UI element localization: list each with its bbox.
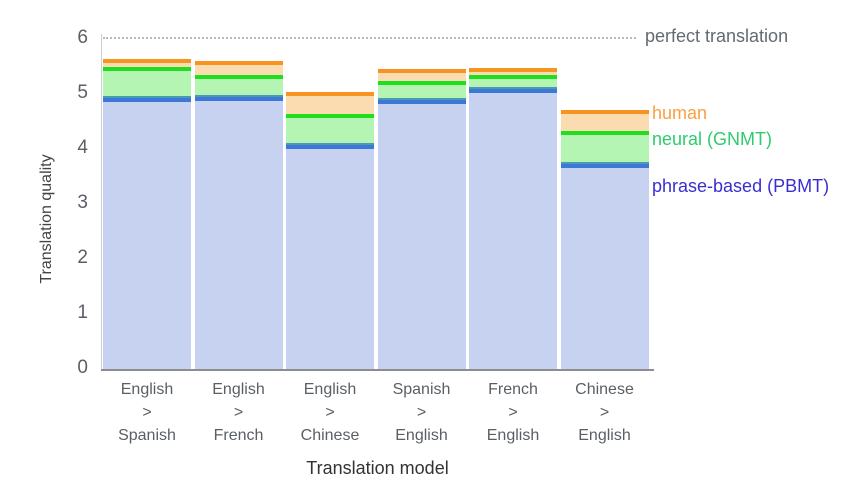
bar-spanish-english[interactable] — [378, 69, 466, 369]
rule-human — [103, 59, 191, 63]
y-tick-label-6: 6 — [58, 28, 88, 47]
rule-human — [286, 92, 374, 96]
segment-pbmt — [103, 98, 191, 369]
segment-pbmt — [378, 100, 466, 369]
rule-human — [195, 61, 283, 65]
x-axis-line — [101, 369, 654, 371]
y-tick-label-4: 4 — [58, 138, 88, 157]
rule-gnmt — [469, 75, 557, 79]
rule-gnmt — [195, 75, 283, 79]
bar-english-chinese[interactable] — [286, 92, 374, 369]
y-tick-label-0: 0 — [58, 358, 88, 377]
segment-pbmt — [561, 164, 649, 369]
bar-french-english[interactable] — [469, 68, 557, 369]
segment-gnmt — [103, 67, 191, 98]
rule-gnmt — [561, 131, 649, 135]
segment-pbmt — [469, 89, 557, 369]
rule-human — [469, 68, 557, 72]
rule-human — [378, 69, 466, 73]
y-tick-label-1: 1 — [58, 303, 88, 322]
rule-gnmt — [378, 81, 466, 85]
legend-item-human[interactable]: human — [652, 103, 707, 124]
x-label-from: Chinese — [550, 378, 660, 401]
legend-item-pbmt[interactable]: phrase-based (PBMT) — [652, 176, 829, 197]
y-tick-label-3: 3 — [58, 193, 88, 212]
bar-english-spanish[interactable] — [103, 59, 191, 369]
perfect-translation-label: perfect translation — [645, 26, 788, 47]
translation-quality-chart: Translation quality 6 5 4 3 2 1 0 perfec… — [0, 0, 857, 498]
x-label-to: English — [550, 424, 660, 447]
y-axis-line — [101, 34, 102, 370]
rule-gnmt — [286, 114, 374, 118]
rule-pbmt — [561, 164, 649, 168]
rule-pbmt — [286, 145, 374, 149]
rule-pbmt — [378, 100, 466, 104]
x-label-arrow: > — [550, 401, 660, 424]
rule-pbmt — [103, 98, 191, 102]
x-tick-label-5: Chinese>English — [550, 378, 660, 448]
rule-human — [561, 110, 649, 114]
rule-pbmt — [469, 89, 557, 93]
rule-gnmt — [103, 67, 191, 71]
segment-pbmt — [195, 97, 283, 369]
y-tick-label-5: 5 — [58, 83, 88, 102]
bar-chinese-english[interactable] — [561, 110, 649, 369]
rule-pbmt — [195, 97, 283, 101]
plot-area — [103, 34, 654, 369]
segment-pbmt — [286, 145, 374, 369]
y-axis-title: Translation quality — [38, 119, 56, 319]
segment-gnmt — [286, 114, 374, 144]
legend-item-gnmt[interactable]: neural (GNMT) — [652, 129, 772, 150]
bar-english-french[interactable] — [195, 61, 283, 369]
segment-gnmt — [561, 131, 649, 163]
x-axis-title: Translation model — [0, 458, 755, 479]
y-tick-label-2: 2 — [58, 248, 88, 267]
